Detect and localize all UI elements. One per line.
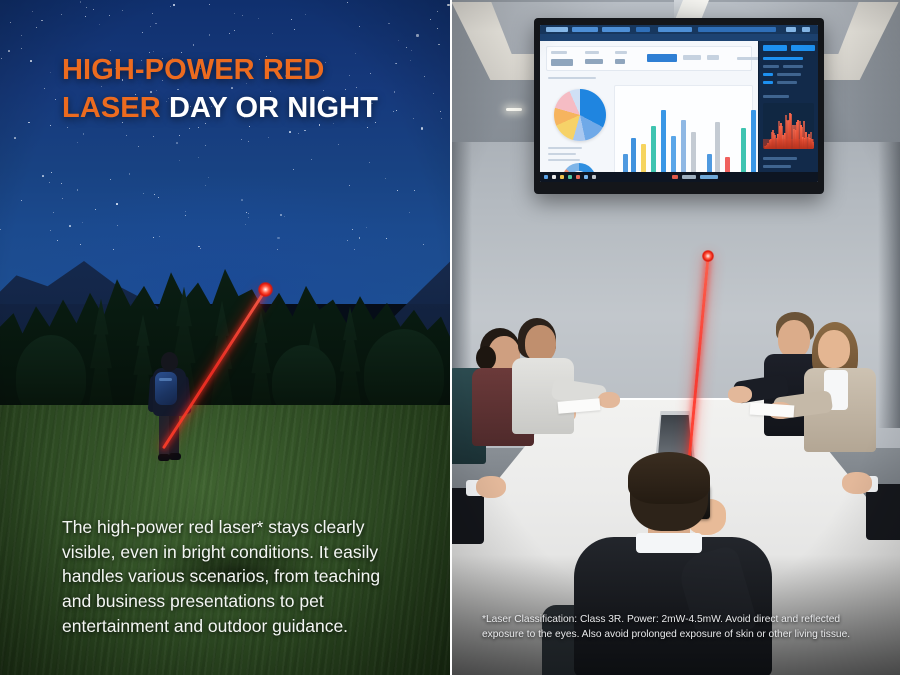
presenter-hair [628, 452, 710, 504]
laser-dot-outdoor [258, 282, 273, 297]
laser-dot-indoor [702, 250, 714, 262]
sidebar-label [783, 65, 803, 68]
page-title: HIGH-POWER RED LASER DAY OR NIGHT [62, 52, 432, 127]
dashboard-sidebar [758, 41, 818, 172]
product-feature-image: HIGH-POWER RED LASER DAY OR NIGHT The hi… [0, 0, 900, 675]
taskbar-clock [682, 175, 696, 179]
topbar-search[interactable] [658, 27, 692, 32]
topbar-icon[interactable] [802, 27, 810, 32]
bar [631, 138, 636, 172]
hand [842, 472, 872, 494]
filter-value[interactable] [615, 59, 625, 64]
head [525, 325, 556, 362]
hiker-figure [148, 352, 190, 462]
topbar-logo [546, 27, 568, 32]
sidebar-label [777, 73, 801, 76]
filter-tab[interactable] [683, 55, 701, 60]
bar-chart [614, 85, 753, 177]
taskbar-tray-icon[interactable] [700, 175, 718, 179]
hand [728, 386, 752, 403]
taskbar-icon[interactable] [592, 175, 596, 179]
taskbar-tray-icon[interactable] [672, 175, 678, 179]
filter-label [585, 51, 599, 54]
section-title [548, 77, 596, 79]
attendee-left-back [508, 318, 588, 448]
sleeve [450, 488, 484, 544]
bar [741, 128, 746, 172]
topbar-menu-item[interactable] [636, 27, 650, 32]
bar [651, 126, 656, 172]
sidebar-tag [763, 73, 773, 76]
headline-line2-rest: DAY OR NIGHT [161, 92, 378, 124]
night-scene-panel: HIGH-POWER RED LASER DAY OR NIGHT The hi… [0, 0, 450, 675]
topbar-menu-item[interactable] [572, 27, 598, 32]
headline-line2-accent: LASER [62, 92, 161, 124]
sidebar-label [777, 81, 797, 84]
presenter-collar [636, 533, 702, 553]
taskbar-icon[interactable] [584, 175, 588, 179]
hiker-head [161, 352, 178, 371]
laser-disclaimer: *Laser Classification: Class 3R. Power: … [482, 613, 874, 643]
hiker-backpack [155, 372, 177, 405]
topbar-icon[interactable] [786, 27, 796, 32]
filter-label [551, 51, 567, 54]
hair-bun [476, 346, 496, 370]
taskbar-icon[interactable] [576, 175, 580, 179]
foreground-attendee-right [842, 470, 900, 540]
taskbar-icon[interactable] [544, 175, 548, 179]
os-taskbar [540, 172, 818, 182]
bar [707, 154, 712, 172]
bar [641, 144, 646, 172]
sidebar-bar [763, 57, 803, 60]
hiker-leg-left [159, 412, 169, 458]
taskbar-icon[interactable] [552, 175, 556, 179]
pie-chart [554, 89, 606, 141]
filter-value[interactable] [551, 59, 573, 66]
headline-line1: HIGH-POWER RED [62, 54, 324, 86]
sidebar-list-item [763, 165, 791, 168]
sidebar-tag [763, 81, 773, 84]
dashboard-subbar [540, 34, 818, 41]
dashboard-screen [540, 25, 818, 182]
bar [623, 154, 628, 172]
bar [681, 120, 686, 172]
bar [715, 122, 720, 172]
sidebar-list-item [763, 157, 797, 160]
filter-apply-button[interactable] [647, 54, 677, 62]
dashboard-main [540, 41, 758, 172]
topbar-menu-item[interactable] [602, 27, 630, 32]
wall-display[interactable] [534, 18, 824, 194]
body-copy: The high-power red laser* stays clearly … [62, 515, 412, 639]
topbar-breadcrumb [698, 27, 776, 32]
filter-label [615, 51, 627, 54]
pie-legend [548, 159, 580, 161]
pie-legend [548, 153, 576, 155]
sidebar-area-chart [763, 103, 814, 149]
hand [598, 392, 620, 408]
sidebar-title [763, 45, 787, 51]
filter-tab[interactable] [707, 55, 719, 60]
night-sky [0, 0, 450, 304]
headline-block: HIGH-POWER RED LASER DAY OR NIGHT [62, 52, 432, 127]
sidebar-label [763, 65, 779, 68]
bar [691, 132, 696, 172]
attendee-right-front [798, 322, 890, 462]
conference-scene-panel: *Laser Classification: Class 3R. Power: … [450, 0, 900, 675]
filter-value[interactable] [585, 59, 603, 64]
pie-legend [548, 147, 582, 149]
foreground-attendee-left [450, 474, 512, 544]
bar [671, 136, 676, 172]
sleeve [866, 484, 900, 540]
panel-divider [450, 0, 452, 675]
ceiling-downlight [506, 108, 522, 111]
sidebar-section-title [763, 95, 789, 98]
bar-highlight [725, 157, 730, 172]
head [818, 330, 850, 368]
sidebar-action-button[interactable] [791, 45, 815, 51]
taskbar-icon[interactable] [560, 175, 564, 179]
hiker-boot-right [169, 453, 181, 460]
bar [751, 110, 756, 172]
filter-card [546, 46, 752, 71]
taskbar-icon[interactable] [568, 175, 572, 179]
hand [476, 476, 506, 498]
bar [661, 110, 666, 172]
